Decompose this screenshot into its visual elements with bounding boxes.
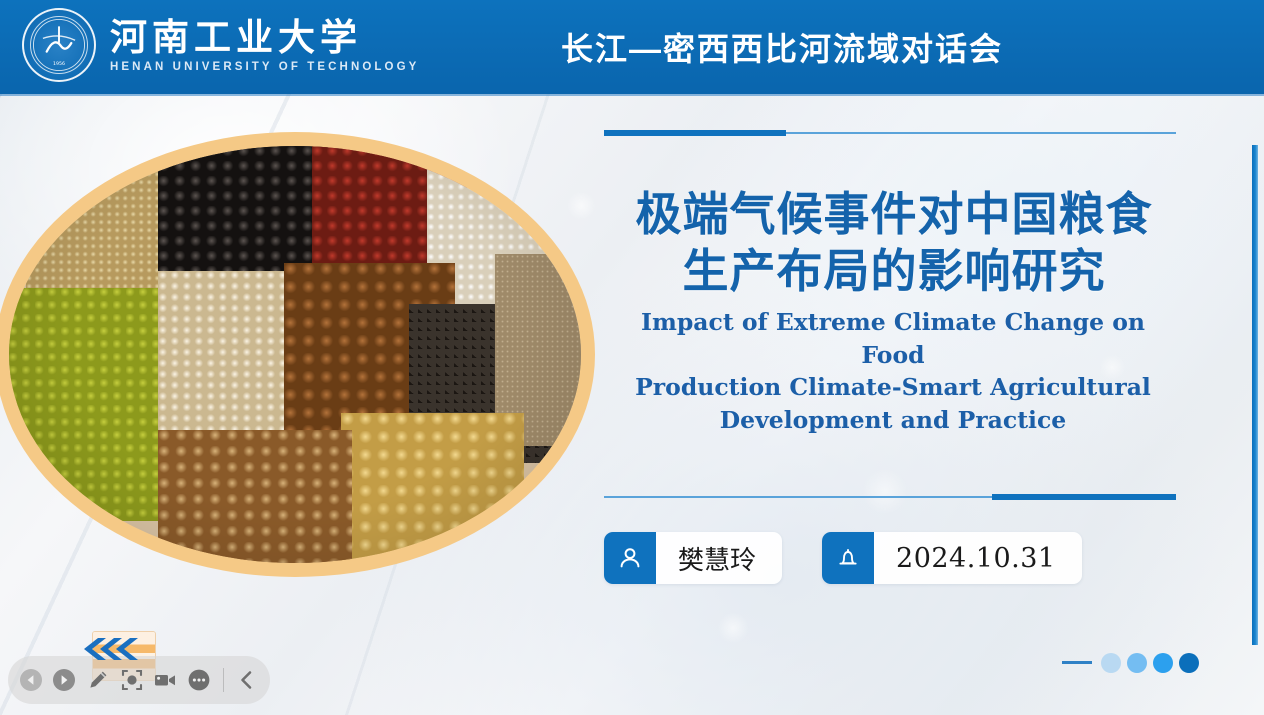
previous-slide-button[interactable] <box>16 662 46 698</box>
screenshot-icon <box>119 667 145 693</box>
title-top-rule-thick <box>604 130 786 136</box>
app-header: 1956 河南工业大学 HENAN UNIVERSITY OF TECHNOLO… <box>0 0 1264 94</box>
seal-glyph-icon: 1956 <box>24 10 94 80</box>
slide-title-cn-line1: 极端气候事件对中国粮食 <box>604 186 1184 243</box>
grain-photo <box>0 132 595 577</box>
slide-canvas: 极端气候事件对中国粮食 生产布局的影响研究 Impact of Extreme … <box>0 94 1264 715</box>
university-name-block: 河南工业大学 HENAN UNIVERSITY OF TECHNOLOGY <box>110 15 419 75</box>
title-bottom-rule <box>604 494 1176 500</box>
ellipsis-icon <box>186 667 212 693</box>
person-glyph-icon <box>616 544 644 572</box>
pager-dot[interactable] <box>1153 653 1173 673</box>
author-name: 樊慧玲 <box>656 540 782 577</box>
chevron-left-icon <box>235 668 259 692</box>
caret-left-icon <box>18 667 44 693</box>
caret-right-icon <box>51 667 77 693</box>
pager-dot[interactable] <box>1127 653 1147 673</box>
collapse-toolbar-button[interactable] <box>232 662 262 698</box>
person-icon <box>604 532 656 584</box>
university-name-en: HENAN UNIVERSITY OF TECHNOLOGY <box>110 59 419 75</box>
date-badge: 2024.10.31 <box>822 532 1082 584</box>
pager-lead-line <box>1062 661 1092 664</box>
grain-photo-ellipse <box>0 132 595 577</box>
slide-meta-row: 樊慧玲 2024.10.31 <box>604 532 1184 584</box>
record-video-button[interactable] <box>150 662 180 698</box>
slide-title-en-line3: Development and Practice <box>612 404 1174 437</box>
slide-title-en: Impact of Extreme Climate Change on Food… <box>612 306 1174 436</box>
svg-text:1956: 1956 <box>53 61 65 67</box>
university-branding: 1956 河南工业大学 HENAN UNIVERSITY OF TECHNOLO… <box>22 8 419 82</box>
university-name-cn: 河南工业大学 <box>110 15 419 59</box>
slide-pager-dots <box>1101 653 1199 673</box>
author-badge: 樊慧玲 <box>604 532 782 584</box>
video-camera-icon <box>152 667 178 693</box>
grain-photo-vignette <box>9 146 581 563</box>
slide-title-column: 极端气候事件对中国粮食 生产布局的影响研究 Impact of Extreme … <box>604 94 1184 715</box>
presentation-window: 1956 河南工业大学 HENAN UNIVERSITY OF TECHNOLO… <box>0 0 1264 715</box>
bell-icon <box>822 532 874 584</box>
title-bottom-rule-thick <box>992 494 1176 500</box>
playback-toolbar <box>8 656 270 704</box>
screenshot-button[interactable] <box>117 662 147 698</box>
annotate-pen-button[interactable] <box>83 662 113 698</box>
toolbar-divider <box>223 668 224 692</box>
university-seal-icon: 1956 <box>22 8 96 82</box>
slide-title-cn: 极端气候事件对中国粮食 生产布局的影响研究 <box>604 186 1184 300</box>
grain-photo-content <box>9 146 581 563</box>
next-slide-button[interactable] <box>50 662 80 698</box>
slide-title-cn-line2: 生产布局的影响研究 <box>604 243 1184 300</box>
pager-dot[interactable] <box>1179 653 1199 673</box>
slide-title-en-line2: Production Climate-Smart Agricultural <box>612 371 1174 404</box>
bell-glyph-icon <box>834 544 862 572</box>
title-top-rule <box>604 130 1176 136</box>
pen-icon <box>85 667 111 693</box>
presentation-date: 2024.10.31 <box>874 543 1082 574</box>
slide-title-en-line1: Impact of Extreme Climate Change on Food <box>612 306 1174 371</box>
pager-dot[interactable] <box>1101 653 1121 673</box>
more-options-button[interactable] <box>184 662 214 698</box>
right-accent-bar <box>1252 145 1258 645</box>
